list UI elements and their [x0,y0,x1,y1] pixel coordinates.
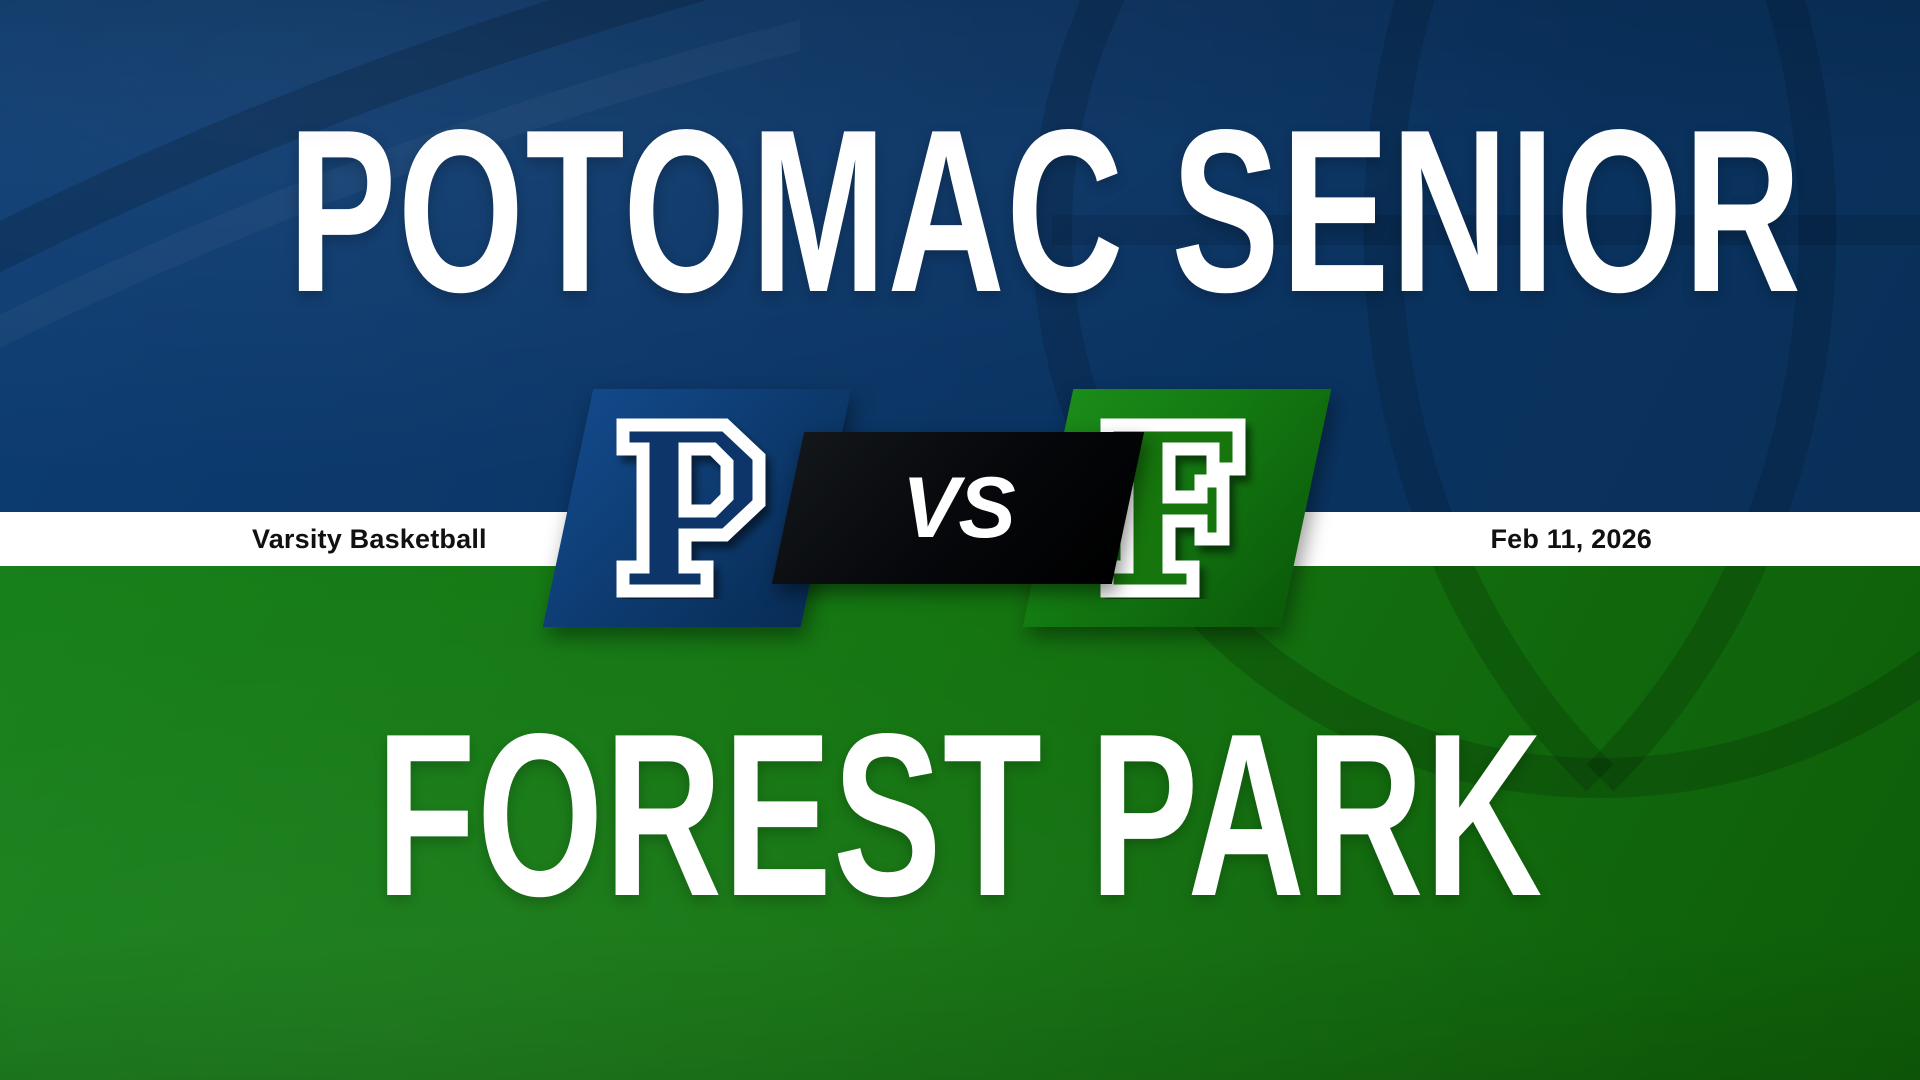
home-team-initial-icon [613,417,781,599]
date-label: Feb 11, 2026 [1490,524,1652,555]
versus-label: VS [902,465,1015,551]
away-team-name: FOREST PARK [288,712,1632,921]
home-team-name: POTOMAC SENIOR [288,108,1632,317]
matchup-badge-cluster: VS [450,389,1470,689]
matchup-graphic: POTOMAC SENIOR FOREST PARK Varsity Baske… [0,0,1920,1080]
versus-badge: VS [772,432,1144,584]
